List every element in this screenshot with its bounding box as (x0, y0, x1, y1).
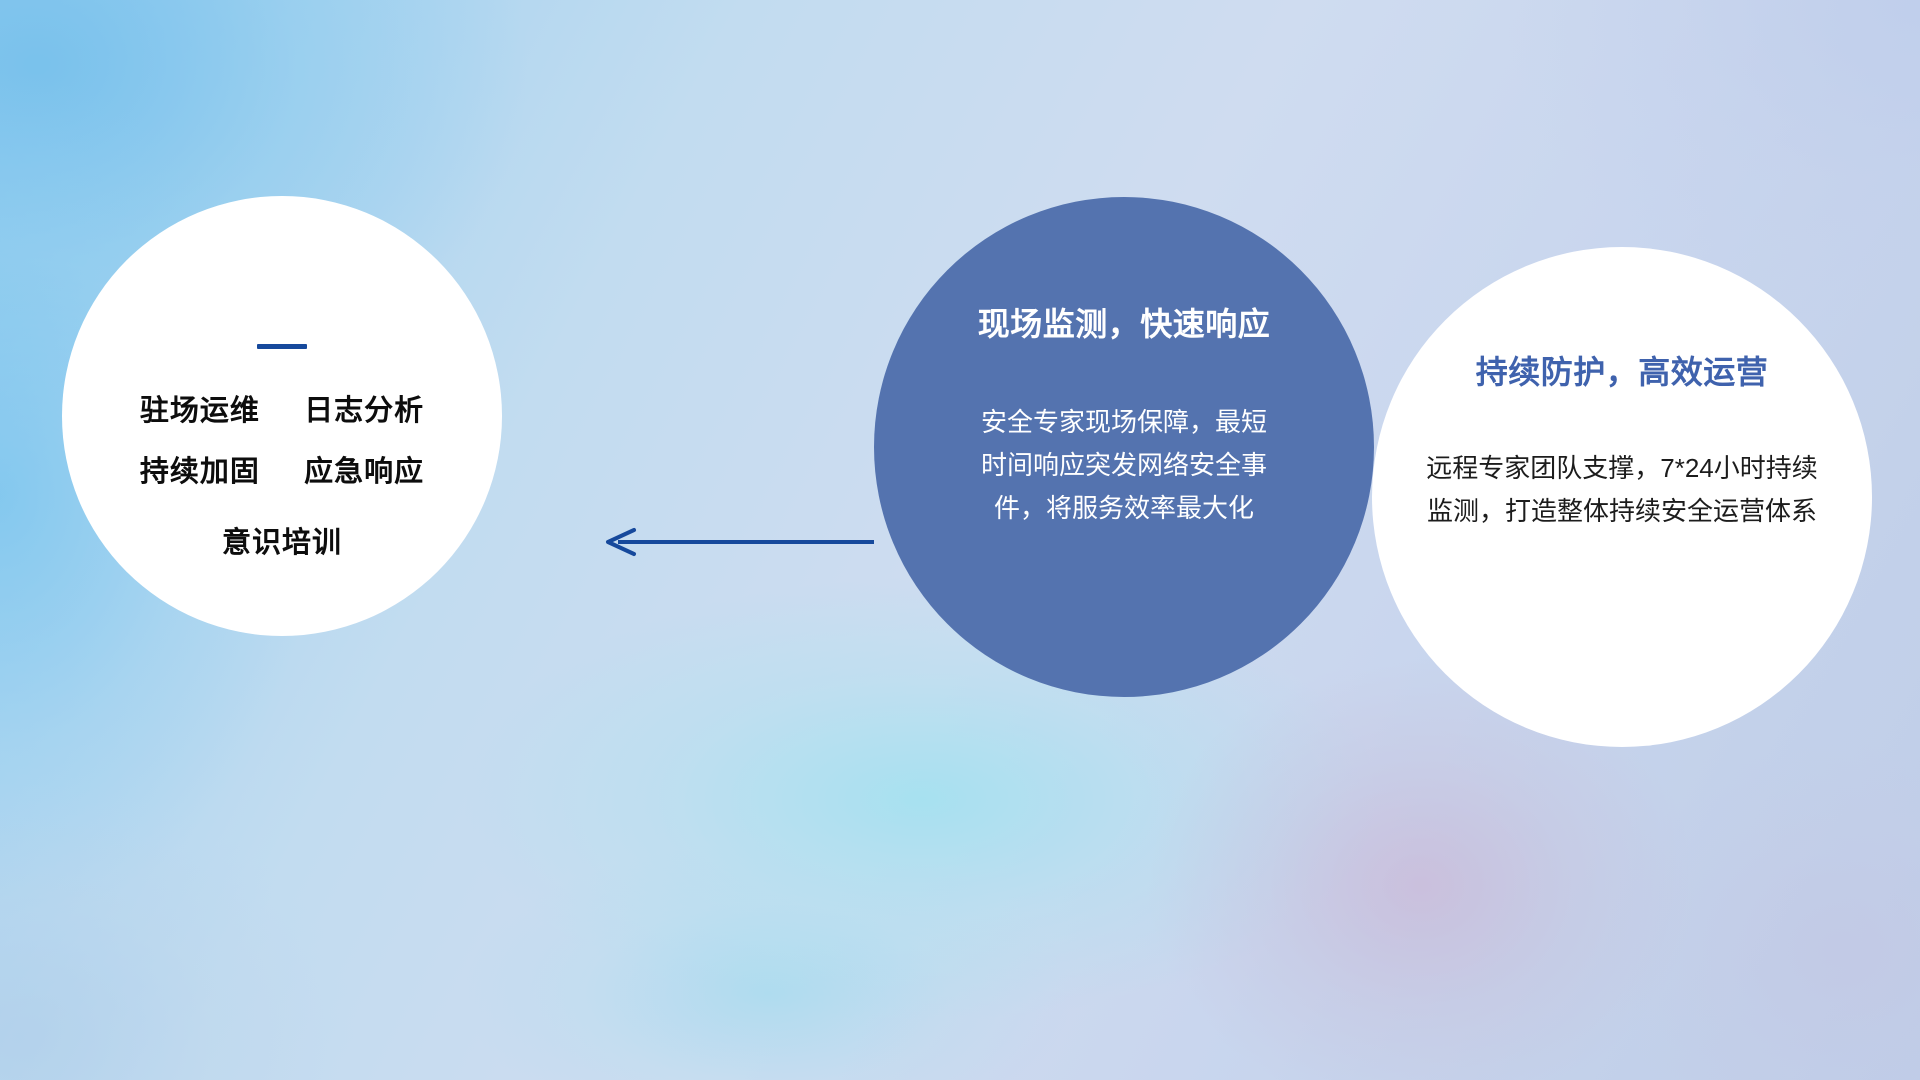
left-circle-content: 驻场运维 日志分析 持续加固 应急响应 意识培训 (62, 196, 502, 636)
flow-arrow-left-icon (596, 522, 876, 562)
middle-circle-body: 安全专家现场保障，最短时间响应突发网络安全事件，将服务效率最大化 (974, 401, 1274, 530)
right-circle-content: 持续防护，高效运营 远程专家团队支撑，7*24小时持续监测，打造整体持续安全运营… (1372, 247, 1872, 747)
left-circle-line-1-right: 日志分析 (304, 395, 424, 427)
slide-canvas: 驻场运维 日志分析 持续加固 应急响应 意识培训 现场监测，快速响应 安全专家现… (0, 0, 1920, 1080)
left-circle-line-1: 驻场运维 日志分析 (140, 393, 424, 430)
left-circle-line-2-right: 应急响应 (304, 456, 424, 488)
left-circle-line-1-left: 驻场运维 (140, 395, 260, 427)
right-circle-body: 远程专家团队支撑，7*24小时持续监测，打造整体持续安全运营体系 (1417, 447, 1827, 533)
middle-circle-content: 现场监测，快速响应 安全专家现场保障，最短时间响应突发网络安全事件，将服务效率最… (874, 197, 1374, 697)
right-circle-title: 持续防护，高效运营 (1476, 347, 1769, 393)
left-circle-line-3: 意识培训 (222, 525, 342, 562)
left-circle-divider (257, 344, 307, 349)
left-circle-line-2: 持续加固 应急响应 (140, 454, 424, 491)
left-circle-line-2-left: 持续加固 (140, 456, 260, 488)
middle-circle-title: 现场监测，快速响应 (978, 299, 1271, 345)
